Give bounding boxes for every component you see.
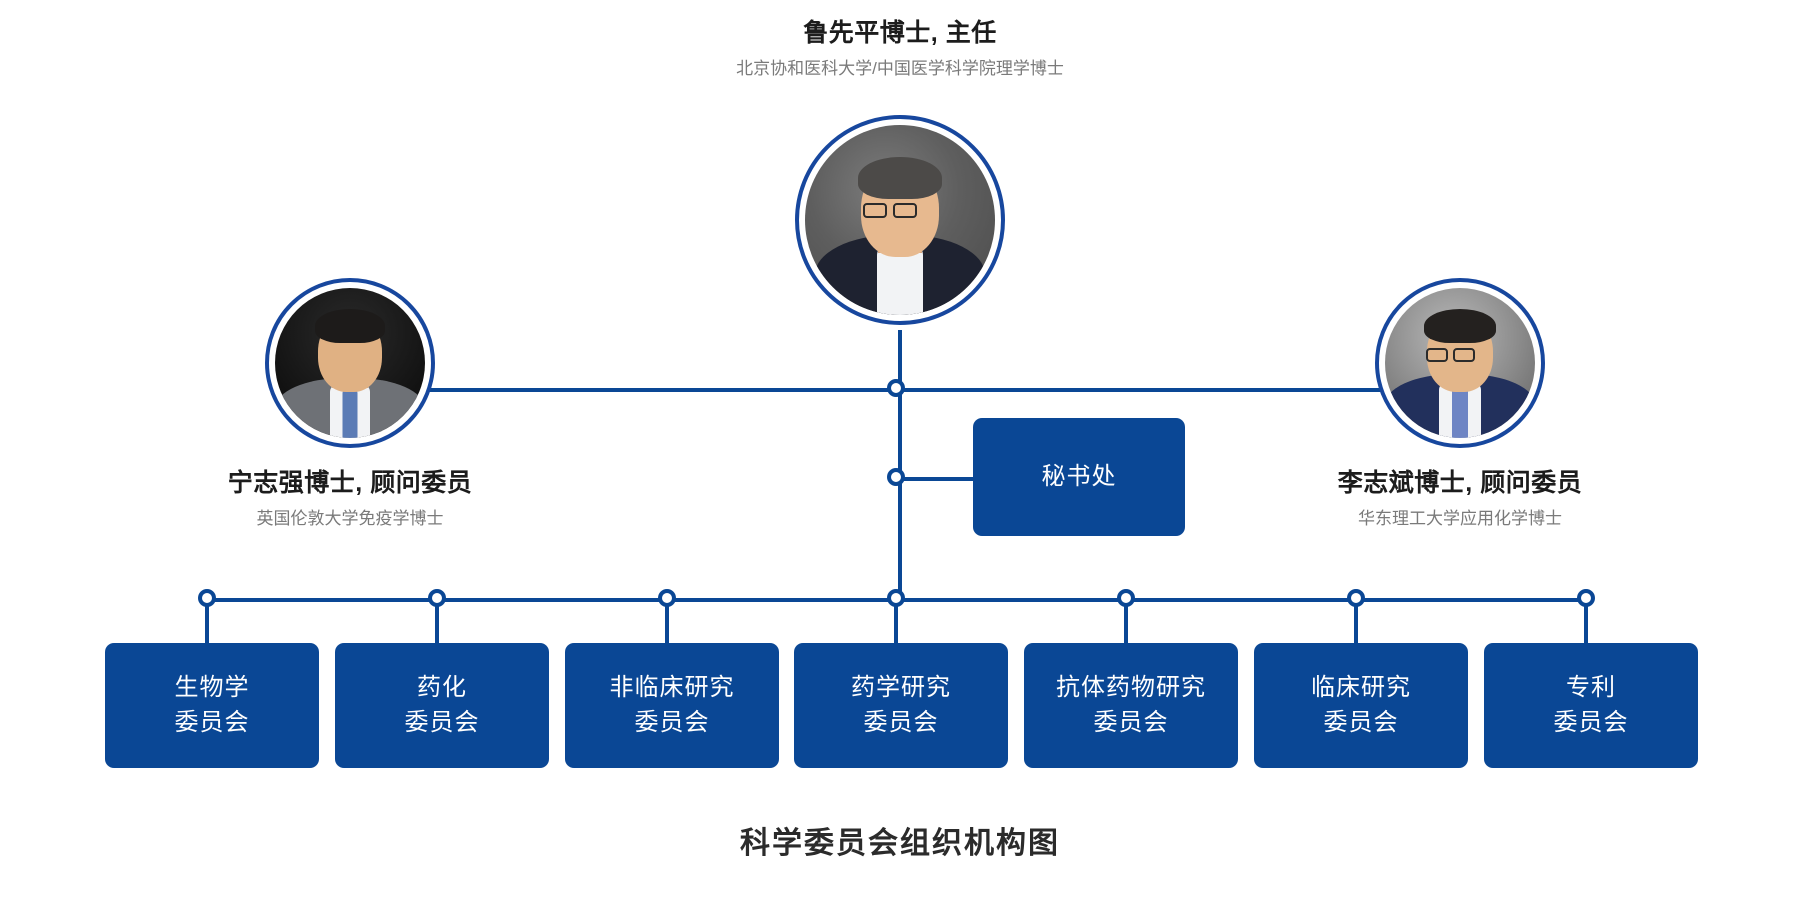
committee-label-3-line2: 委员会 bbox=[635, 706, 710, 740]
committee-label-4-line1: 药学研究 bbox=[851, 671, 951, 705]
advisor-left-name: 宁志强博士, 顾问委员 bbox=[60, 468, 640, 499]
secretariat-label: 秘书处 bbox=[1042, 460, 1117, 494]
advisor-right-label: 李志斌博士, 顾问委员 华东理工大学应用化学博士 bbox=[1170, 468, 1750, 530]
committee-label-1-line1: 生物学 bbox=[175, 671, 250, 705]
committee-label-3-line1: 非临床研究 bbox=[610, 671, 735, 705]
committee-label-5-line2: 委员会 bbox=[1094, 706, 1169, 740]
advisor-left-degree: 英国伦敦大学免疫学博士 bbox=[60, 508, 640, 530]
org-chart: 鲁先平博士, 主任 北京协和医科大学/中国医学科学院理学博士 bbox=[0, 0, 1800, 900]
connector-node-committee-7 bbox=[1577, 589, 1595, 607]
connector-node-committee-6 bbox=[1347, 589, 1365, 607]
committee-box-6[interactable]: 临床研究 委员会 bbox=[1254, 643, 1468, 768]
committee-box-4[interactable]: 药学研究 委员会 bbox=[794, 643, 1008, 768]
committee-box-5[interactable]: 抗体药物研究 委员会 bbox=[1024, 643, 1238, 768]
chairman-avatar bbox=[795, 115, 1005, 325]
chairman-name: 鲁先平博士, 主任 bbox=[300, 18, 1500, 49]
advisor-right-photo bbox=[1385, 288, 1535, 438]
committee-label-4-line2: 委员会 bbox=[864, 706, 939, 740]
secretariat-box[interactable]: 秘书处 bbox=[973, 418, 1185, 536]
connector-node-committee-4 bbox=[887, 589, 905, 607]
connector-node-committee-1 bbox=[198, 589, 216, 607]
advisor-right-degree: 华东理工大学应用化学博士 bbox=[1170, 508, 1750, 530]
advisor-left-avatar bbox=[265, 278, 435, 448]
chairman-photo bbox=[805, 125, 995, 315]
connector-node-committee-3 bbox=[658, 589, 676, 607]
advisor-left-label: 宁志强博士, 顾问委员 英国伦敦大学免疫学博士 bbox=[60, 468, 640, 530]
connector-node-committee-2 bbox=[428, 589, 446, 607]
committee-box-3[interactable]: 非临床研究 委员会 bbox=[565, 643, 779, 768]
connector-node-secretariat bbox=[887, 468, 905, 486]
committee-box-2[interactable]: 药化 委员会 bbox=[335, 643, 549, 768]
committee-label-1-line2: 委员会 bbox=[175, 706, 250, 740]
committee-label-2-line2: 委员会 bbox=[405, 706, 480, 740]
committee-label-2-line1: 药化 bbox=[417, 671, 467, 705]
committee-box-1[interactable]: 生物学 委员会 bbox=[105, 643, 319, 768]
chairman-label: 鲁先平博士, 主任 北京协和医科大学/中国医学科学院理学博士 bbox=[300, 18, 1500, 80]
committee-label-6-line2: 委员会 bbox=[1324, 706, 1399, 740]
committee-label-6-line1: 临床研究 bbox=[1311, 671, 1411, 705]
connector-node-committee-5 bbox=[1117, 589, 1135, 607]
advisor-right-avatar bbox=[1375, 278, 1545, 448]
advisor-right-name: 李志斌博士, 顾问委员 bbox=[1170, 468, 1750, 499]
advisor-left-photo bbox=[275, 288, 425, 438]
chairman-degree: 北京协和医科大学/中国医学科学院理学博士 bbox=[300, 58, 1500, 80]
connector-secretariat-branch bbox=[900, 477, 978, 481]
chart-title: 科学委员会组织机构图 bbox=[0, 818, 1800, 862]
connector-main-trunk bbox=[898, 388, 902, 602]
committee-label-7-line1: 专利 bbox=[1566, 671, 1616, 705]
committee-label-7-line2: 委员会 bbox=[1554, 706, 1629, 740]
connector-node-top-center bbox=[887, 379, 905, 397]
committee-box-7[interactable]: 专利 委员会 bbox=[1484, 643, 1698, 768]
committee-label-5-line1: 抗体药物研究 bbox=[1056, 671, 1206, 705]
